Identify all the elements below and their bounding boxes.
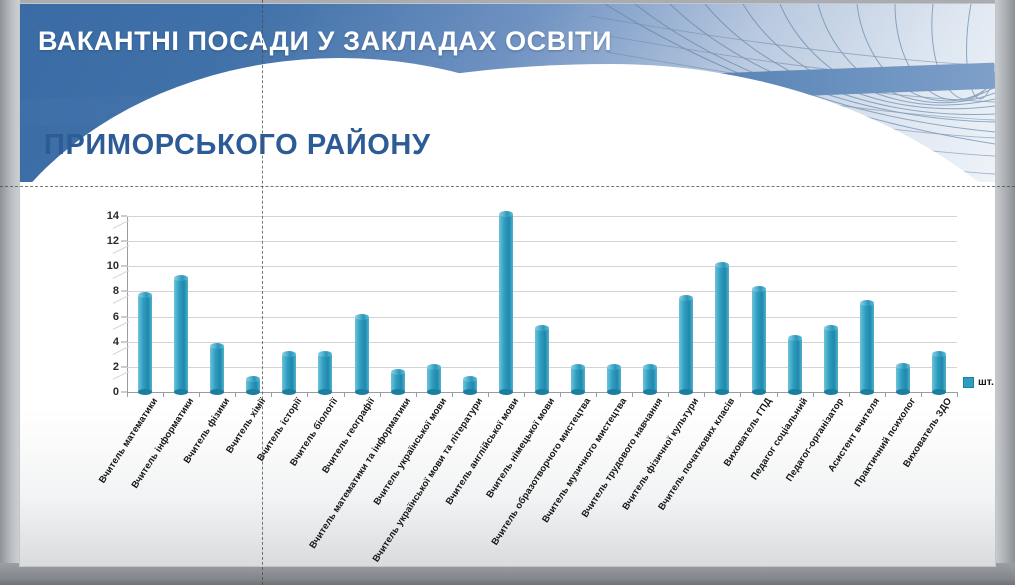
chart-legend[interactable]: шт. од. bbox=[963, 376, 995, 388]
bar[interactable] bbox=[174, 278, 188, 392]
x-tick-mark bbox=[632, 392, 633, 397]
editor-chrome-right bbox=[995, 0, 1015, 585]
bar-chart[interactable]: 02468101214Вчитель математикиВчитель інф… bbox=[35, 204, 980, 554]
x-tick-mark bbox=[307, 392, 308, 397]
x-tick-mark bbox=[452, 392, 453, 397]
x-tick-mark bbox=[271, 392, 272, 397]
bar[interactable] bbox=[788, 338, 802, 392]
x-tick-mark bbox=[235, 392, 236, 397]
y-tick-mark bbox=[121, 216, 127, 217]
x-tick-mark bbox=[777, 392, 778, 397]
y-tick-label: 10 bbox=[107, 260, 119, 272]
bar[interactable] bbox=[860, 303, 874, 392]
x-tick-mark bbox=[957, 392, 958, 397]
x-tick-label: Вчитель інформатики bbox=[130, 396, 197, 490]
y-tick-label: 8 bbox=[113, 285, 119, 297]
slide-header-banner: ВАКАНТНІ ПОСАДИ У ЗАКЛАДАХ ОСВІТИ ПРИМОР… bbox=[20, 4, 995, 182]
grid-line bbox=[127, 291, 957, 292]
y-tick-label: 2 bbox=[113, 361, 119, 373]
y-tick-mark bbox=[121, 291, 127, 292]
slide-canvas[interactable]: ВАКАНТНІ ПОСАДИ У ЗАКЛАДАХ ОСВІТИ ПРИМОР… bbox=[20, 4, 995, 566]
bar[interactable] bbox=[463, 379, 477, 392]
vertical-guide[interactable] bbox=[262, 0, 263, 585]
bar[interactable] bbox=[246, 379, 260, 392]
x-tick-mark bbox=[740, 392, 741, 397]
bar[interactable] bbox=[679, 298, 693, 392]
bar[interactable] bbox=[571, 367, 585, 392]
y-tick-mark bbox=[121, 366, 127, 367]
x-tick-mark bbox=[344, 392, 345, 397]
slide-title-line-1: ВАКАНТНІ ПОСАДИ У ЗАКЛАДАХ ОСВІТИ bbox=[38, 26, 612, 57]
x-tick-label: Практичний психолог bbox=[852, 396, 918, 489]
x-tick-label: Вчитель початкових класів bbox=[657, 396, 738, 512]
x-tick-label: Вчитель української мови bbox=[371, 396, 449, 507]
y-axis bbox=[127, 216, 128, 392]
x-tick-mark bbox=[849, 392, 850, 397]
y-tick-mark bbox=[121, 341, 127, 342]
bar[interactable] bbox=[355, 317, 369, 392]
x-tick-mark bbox=[596, 392, 597, 397]
bar[interactable] bbox=[715, 265, 729, 392]
x-tick-mark bbox=[416, 392, 417, 397]
y-tick-mark bbox=[121, 241, 127, 242]
bar[interactable] bbox=[391, 372, 405, 392]
grid-line bbox=[127, 216, 957, 217]
x-tick-mark bbox=[921, 392, 922, 397]
x-tick-label: Вчитель німецької мови bbox=[484, 396, 557, 500]
x-tick-mark bbox=[127, 392, 128, 397]
legend-swatch-icon bbox=[963, 377, 974, 388]
bar[interactable] bbox=[643, 367, 657, 392]
y-tick-mark bbox=[121, 266, 127, 267]
bar[interactable] bbox=[318, 354, 332, 392]
x-tick-mark bbox=[704, 392, 705, 397]
x-tick-mark bbox=[380, 392, 381, 397]
slide-title-line-2: ПРИМОРСЬКОГО РАЙОНУ bbox=[44, 129, 431, 162]
x-tick-mark bbox=[560, 392, 561, 397]
bar[interactable] bbox=[896, 366, 910, 392]
x-tick-mark bbox=[885, 392, 886, 397]
x-tick-mark bbox=[668, 392, 669, 397]
bar[interactable] bbox=[607, 367, 621, 392]
legend-label: шт. од. bbox=[978, 376, 995, 388]
y-tick-mark bbox=[121, 316, 127, 317]
bar[interactable] bbox=[210, 346, 224, 393]
editor-chrome-bottom bbox=[0, 563, 1015, 585]
x-tick-mark bbox=[199, 392, 200, 397]
bar[interactable] bbox=[535, 328, 549, 392]
x-tick-mark bbox=[163, 392, 164, 397]
grid-line bbox=[127, 241, 957, 242]
y-tick-label: 6 bbox=[113, 311, 119, 323]
x-tick-mark bbox=[524, 392, 525, 397]
y-tick-label: 4 bbox=[113, 336, 119, 348]
bar[interactable] bbox=[282, 354, 296, 392]
chart-plot-area: 02468101214Вчитель математикиВчитель інф… bbox=[127, 216, 957, 392]
horizontal-guide[interactable] bbox=[0, 186, 1015, 187]
y-tick-label: 14 bbox=[107, 210, 119, 222]
bar[interactable] bbox=[138, 295, 152, 392]
y-tick-label: 12 bbox=[107, 235, 119, 247]
bar[interactable] bbox=[752, 289, 766, 392]
presentation-editor: ВАКАНТНІ ПОСАДИ У ЗАКЛАДАХ ОСВІТИ ПРИМОР… bbox=[0, 0, 1015, 585]
y-tick-label: 0 bbox=[113, 386, 119, 398]
editor-chrome-left bbox=[0, 0, 20, 585]
grid-line bbox=[127, 317, 957, 318]
x-tick-mark bbox=[488, 392, 489, 397]
bar[interactable] bbox=[427, 367, 441, 392]
grid-line bbox=[127, 266, 957, 267]
x-tick-label: Вчитель англійської мови bbox=[444, 396, 521, 507]
bar[interactable] bbox=[824, 328, 838, 392]
x-tick-mark bbox=[813, 392, 814, 397]
bar[interactable] bbox=[499, 214, 513, 393]
bar[interactable] bbox=[932, 354, 946, 392]
